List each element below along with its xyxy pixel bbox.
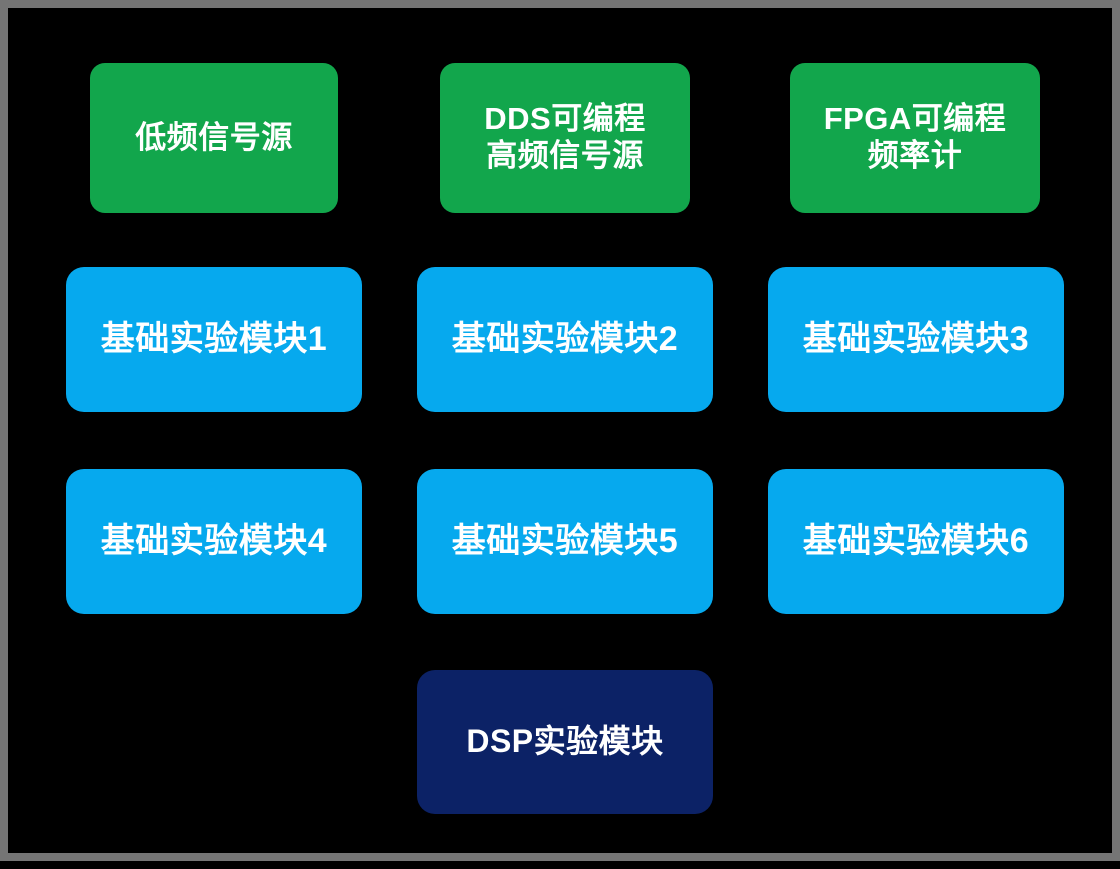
node-basic-module-1[interactable]: 基础实验模块1 xyxy=(66,267,362,412)
node-low-freq-source[interactable]: 低频信号源 xyxy=(90,63,338,213)
node-basic-module-4[interactable]: 基础实验模块4 xyxy=(66,469,362,614)
diagram-canvas: 低频信号源 DDS可编程 高频信号源 FPGA可编程 频率计 基础实验模块1 基… xyxy=(8,8,1120,869)
node-basic-module-5[interactable]: 基础实验模块5 xyxy=(417,469,713,614)
node-dsp-experiment-module[interactable]: DSP实验模块 xyxy=(417,670,713,814)
node-dds-high-freq-source[interactable]: DDS可编程 高频信号源 xyxy=(440,63,690,213)
node-basic-module-3[interactable]: 基础实验模块3 xyxy=(768,267,1064,412)
node-basic-module-2[interactable]: 基础实验模块2 xyxy=(417,267,713,412)
node-label: 基础实验模块3 xyxy=(768,319,1064,359)
node-label: 基础实验模块6 xyxy=(768,521,1064,561)
node-label: 基础实验模块1 xyxy=(66,319,362,359)
node-label: 基础实验模块2 xyxy=(417,319,713,359)
node-label: 基础实验模块4 xyxy=(66,521,362,561)
node-label: DDS可编程 高频信号源 xyxy=(440,101,690,174)
node-label: DSP实验模块 xyxy=(417,723,713,761)
node-fpga-frequency-counter[interactable]: FPGA可编程 频率计 xyxy=(790,63,1040,213)
node-label: 基础实验模块5 xyxy=(417,521,713,561)
node-label: 低频信号源 xyxy=(90,120,338,157)
node-basic-module-6[interactable]: 基础实验模块6 xyxy=(768,469,1064,614)
node-label: FPGA可编程 频率计 xyxy=(790,101,1040,174)
diagram-frame: 低频信号源 DDS可编程 高频信号源 FPGA可编程 频率计 基础实验模块1 基… xyxy=(0,0,1120,861)
